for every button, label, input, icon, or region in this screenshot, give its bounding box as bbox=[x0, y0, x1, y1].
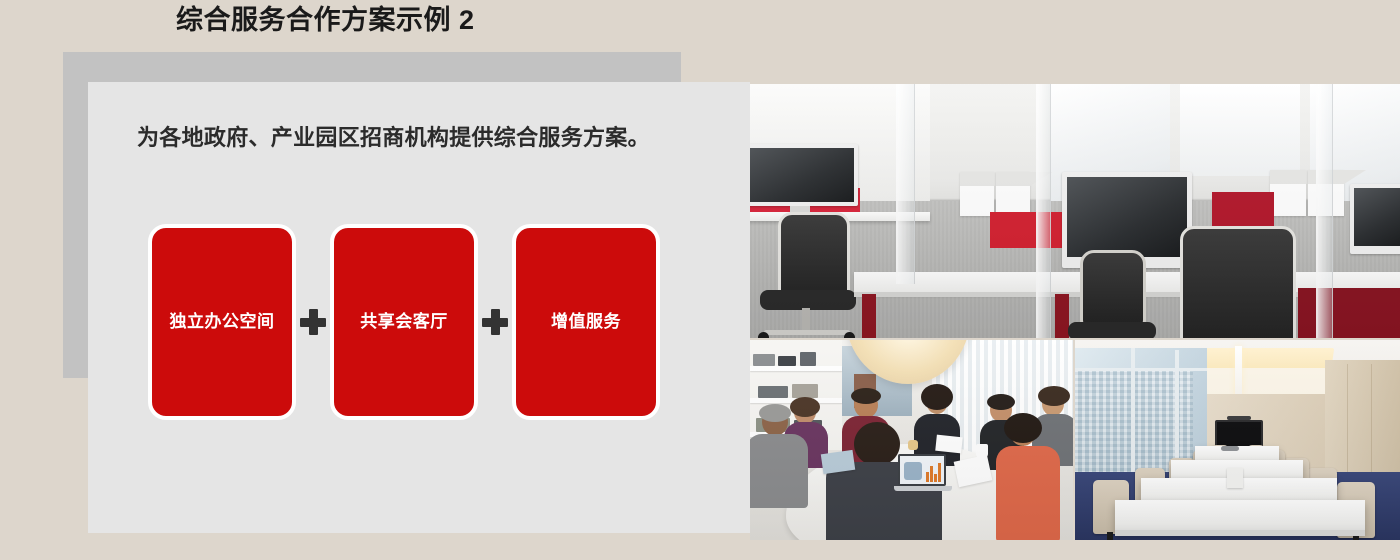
plus-operator-2 bbox=[478, 224, 512, 420]
photo-open-plan-office-desks bbox=[750, 84, 1400, 338]
slide-canvas: 综合服务合作方案示例 2 为各地政府、产业园区招商机构提供综合服务方案。 独立办… bbox=[0, 0, 1400, 560]
service-pillar-2[interactable]: 共享会客厅 bbox=[330, 224, 478, 420]
service-formula-row: 独立办公空间 共享会客厅 增值服务 bbox=[148, 222, 708, 422]
plus-icon bbox=[482, 309, 508, 335]
photo-collage bbox=[750, 84, 1400, 540]
panel-subtitle: 为各地政府、产业园区招商机构提供综合服务方案。 bbox=[137, 122, 717, 154]
service-pillar-1-label: 独立办公空间 bbox=[170, 310, 275, 334]
service-pillar-1[interactable]: 独立办公空间 bbox=[148, 224, 296, 420]
page-title: 综合服务合作方案示例 2 bbox=[176, 2, 475, 38]
service-pillar-2-label: 共享会客厅 bbox=[360, 310, 448, 334]
service-pillar-3[interactable]: 增值服务 bbox=[512, 224, 660, 420]
photo-team-meeting bbox=[750, 340, 1073, 540]
plus-icon bbox=[300, 309, 326, 335]
content-panel: 为各地政府、产业园区招商机构提供综合服务方案。 独立办公空间 共享会客厅 增值服… bbox=[88, 82, 750, 533]
photo-boardroom bbox=[1075, 340, 1400, 540]
plus-operator-1 bbox=[296, 224, 330, 420]
service-pillar-3-label: 增值服务 bbox=[551, 310, 621, 334]
